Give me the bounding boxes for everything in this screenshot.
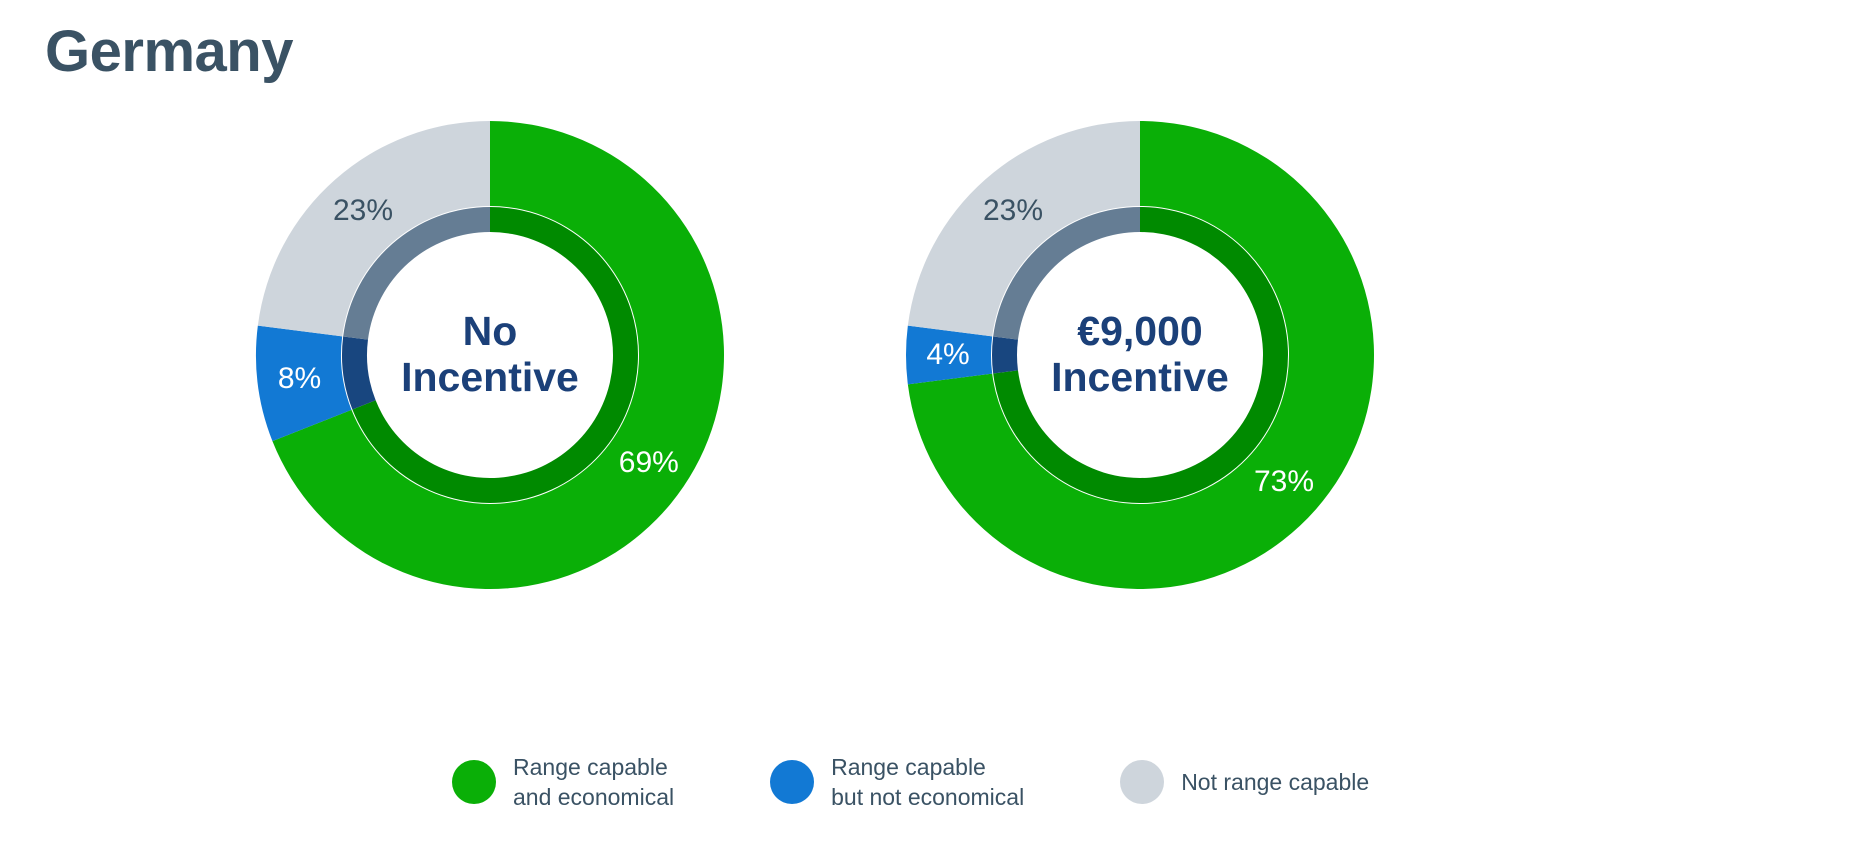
legend-swatch-blue: [770, 760, 814, 804]
slice-percentage-label: 4%: [926, 338, 969, 372]
legend-item-label: Range capable and economical: [513, 752, 674, 813]
legend-swatch-gray: [1120, 760, 1164, 804]
legend-item[interactable]: Not range capable: [1120, 752, 1369, 813]
slice-percentage-label: 23%: [333, 194, 393, 228]
donut-chart-9000-incentive: €9,000 Incentive 73%4%23%: [885, 100, 1395, 610]
donut-svg-1: [235, 100, 745, 610]
slice-percentage-label: 73%: [1254, 465, 1314, 499]
donut-slice-inner-shade: [992, 336, 1018, 373]
donut-chart-no-incentive: No Incentive 69%8%23%: [235, 100, 745, 610]
legend-item[interactable]: Range capable but not economical: [770, 752, 1024, 813]
page-title: Germany: [45, 22, 293, 83]
legend-item-label: Not range capable: [1181, 767, 1369, 797]
slice-percentage-label: 23%: [983, 194, 1043, 228]
legend-item[interactable]: Range capable and economical: [452, 752, 674, 813]
slice-percentage-label: 8%: [278, 362, 321, 396]
slice-percentage-label: 69%: [619, 446, 679, 480]
legend-item-label: Range capable but not economical: [831, 752, 1024, 813]
chart-legend: Range capable and economicalRange capabl…: [0, 752, 1854, 813]
legend-swatch-green: [452, 760, 496, 804]
